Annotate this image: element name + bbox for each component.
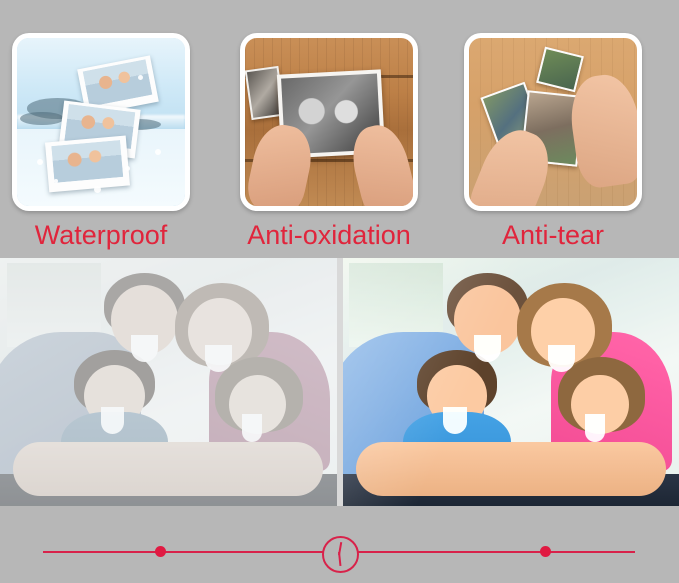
waterproof-demo-photo xyxy=(17,38,185,206)
feature-card-row xyxy=(0,33,679,211)
feature-card-anti-oxidation[interactable] xyxy=(240,33,418,211)
product-feature-panel: Waterproof Anti-oxidation Anti-tear xyxy=(0,0,679,583)
vivid-family-photo xyxy=(343,258,679,506)
feature-label-anti-tear: Anti-tear xyxy=(464,218,642,252)
feature-label-waterproof: Waterproof xyxy=(12,218,190,252)
decorative-divider xyxy=(0,520,679,583)
anti-tear-demo-photo xyxy=(469,38,637,206)
divider-dot-left xyxy=(155,546,166,557)
feature-label-anti-oxidation: Anti-oxidation xyxy=(240,218,418,252)
feature-card-anti-tear[interactable] xyxy=(464,33,642,211)
feature-label-row: Waterproof Anti-oxidation Anti-tear xyxy=(0,218,679,254)
divider-dot-right xyxy=(540,546,551,557)
clock-icon xyxy=(322,536,359,573)
faded-family-photo xyxy=(0,258,337,506)
feature-card-waterproof[interactable] xyxy=(12,33,190,211)
photo-comparison-band xyxy=(0,258,679,506)
anti-oxidation-demo-photo xyxy=(245,38,413,206)
